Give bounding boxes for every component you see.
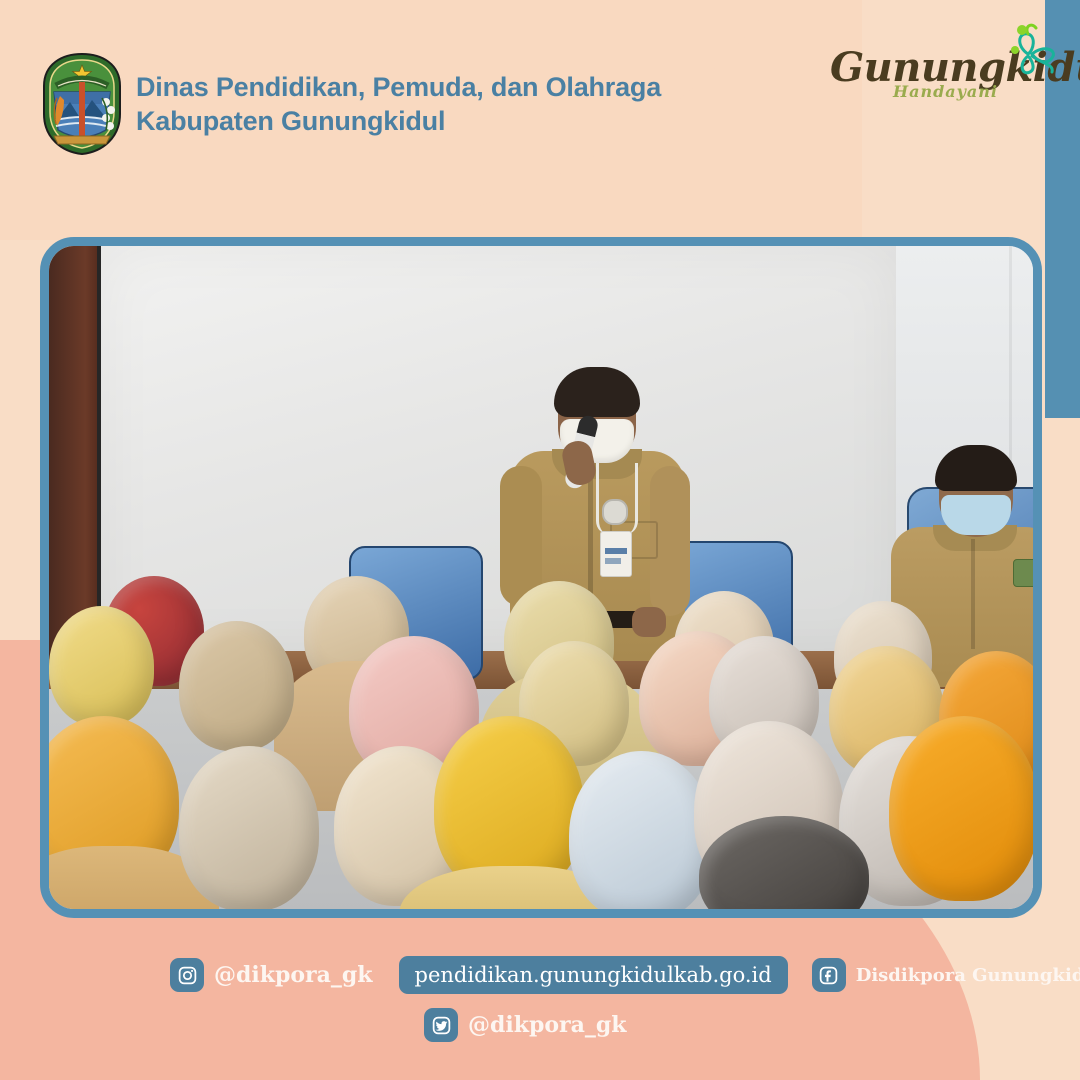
twitter-icon[interactable] — [424, 1008, 458, 1042]
official-id-badge — [600, 531, 632, 577]
audience-head — [49, 606, 154, 726]
poster-header: Dinas Pendidikan, Pemuda, dan Olahraga K… — [0, 0, 1080, 240]
footer-social-bar: @dikpora_gk pendidikan.gunungkidulkab.go… — [0, 946, 1080, 1066]
photo-frame — [40, 237, 1042, 918]
event-photograph — [49, 246, 1033, 909]
poster-canvas: Dinas Pendidikan, Pemuda, dan Olahraga K… — [0, 0, 1080, 1080]
title-line-1: Dinas Pendidikan, Pemuda, dan Olahraga — [136, 70, 661, 104]
facebook-page-name[interactable]: Disdikpora Gunungkidul — [856, 965, 1080, 986]
instagram-icon[interactable] — [170, 958, 204, 992]
official-resting-hand — [632, 607, 666, 637]
website-url-pill[interactable]: pendidikan.gunungkidulkab.go.id — [399, 956, 788, 994]
audience-head — [179, 746, 319, 909]
page-title: Dinas Pendidikan, Pemuda, dan Olahraga K… — [136, 70, 661, 138]
seated-shoulder-patch — [1013, 559, 1033, 587]
instagram-handle[interactable]: @dikpora_gk — [214, 962, 373, 988]
wall-wood-panel — [49, 246, 101, 666]
official-hair — [554, 367, 640, 417]
seated-surgical-mask — [941, 495, 1011, 535]
audience-head — [179, 621, 294, 751]
title-line-2: Kabupaten Gunungkidul — [136, 104, 661, 138]
facebook-icon[interactable] — [812, 958, 846, 992]
gunungkidul-brand-logo: Gunungkidul Handayani — [830, 48, 1060, 124]
audience-head — [889, 716, 1033, 901]
twitter-handle[interactable]: @dikpora_gk — [468, 1012, 627, 1038]
seated-shirt-placket — [971, 539, 975, 649]
social-row-twitter: @dikpora_gk — [424, 1008, 627, 1042]
social-row-primary: @dikpora_gk pendidikan.gunungkidulkab.go… — [170, 956, 1080, 994]
background-left-strip — [0, 240, 34, 640]
official-badge-reel — [602, 499, 628, 525]
audience-head — [569, 751, 714, 909]
regency-crest-icon — [40, 52, 124, 156]
official-left-arm — [500, 466, 542, 606]
dragonfly-flourish-icon — [998, 20, 1064, 82]
seated-hair — [935, 445, 1017, 491]
